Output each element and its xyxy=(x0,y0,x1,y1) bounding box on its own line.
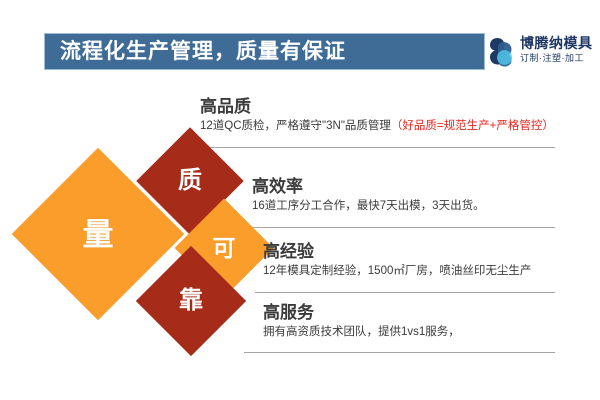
diamond-ke-label: 可 xyxy=(213,237,236,260)
diamond-zhi-label: 质 xyxy=(178,169,202,193)
logo-company-name: 博腾纳模具 xyxy=(520,34,596,52)
feature-title-1: 高品质 xyxy=(200,96,554,118)
company-logo: 博腾纳模具 订制·注塑·加工 xyxy=(487,33,595,73)
feature-divider-4 xyxy=(244,352,555,353)
feature-block-3: 高经验 12年模具定制经验，1500㎡厂房，喷油丝印无尘生产 xyxy=(263,241,531,280)
logo-tagline: 订制·注塑·加工 xyxy=(520,52,596,65)
slide-canvas: 流程化生产管理，质量有保证 博腾纳模具 订制·注塑·加工 量 质 可 靠 高品质… xyxy=(0,0,600,400)
feature-title-3: 高经验 xyxy=(263,241,531,263)
feature-desc-2: 16道工序分工合作，最快7天出模，3天出货。 xyxy=(252,198,485,215)
diamond-liang-label: 量 xyxy=(83,219,114,250)
feature-desc-3: 12年模具定制经验，1500㎡厂房，喷油丝印无尘生产 xyxy=(263,263,531,280)
feature-divider-2 xyxy=(245,227,555,228)
feature-desc-main-2: 16道工序分工合作，最快7天出模，3天出货。 xyxy=(252,200,485,212)
feature-desc-main-1: 12道QC质检，严格遵守"3N"品质管理 xyxy=(200,120,391,132)
feature-desc-main-4: 拥有高资质技术团队，提供1vs1服务， xyxy=(263,326,460,338)
feature-title-2: 高效率 xyxy=(252,176,485,198)
feature-divider-1 xyxy=(193,147,555,148)
feature-block-2: 高效率 16道工序分工合作，最快7天出模，3天出货。 xyxy=(252,176,485,215)
feature-desc-main-3: 12年模具定制经验，1500㎡厂房，喷油丝印无尘生产 xyxy=(263,265,531,277)
logo-wordmark: 博腾纳模具 订制·注塑·加工 xyxy=(520,34,596,65)
butterfly-logo-icon xyxy=(487,36,517,68)
feature-desc-accent-1: （好品质=规范生产+严格管控） xyxy=(391,120,554,132)
feature-title-4: 高服务 xyxy=(263,302,460,324)
feature-desc-4: 拥有高资质技术团队，提供1vs1服务， xyxy=(263,324,460,341)
page-title: 流程化生产管理，质量有保证 xyxy=(60,36,480,68)
feature-desc-1: 12道QC质检，严格遵守"3N"品质管理（好品质=规范生产+严格管控） xyxy=(200,118,554,135)
feature-block-4: 高服务 拥有高资质技术团队，提供1vs1服务， xyxy=(263,302,460,341)
diamond-kao-label: 靠 xyxy=(179,289,203,313)
feature-divider-3 xyxy=(255,292,555,293)
feature-block-1: 高品质 12道QC质检，严格遵守"3N"品质管理（好品质=规范生产+严格管控） xyxy=(200,96,554,135)
